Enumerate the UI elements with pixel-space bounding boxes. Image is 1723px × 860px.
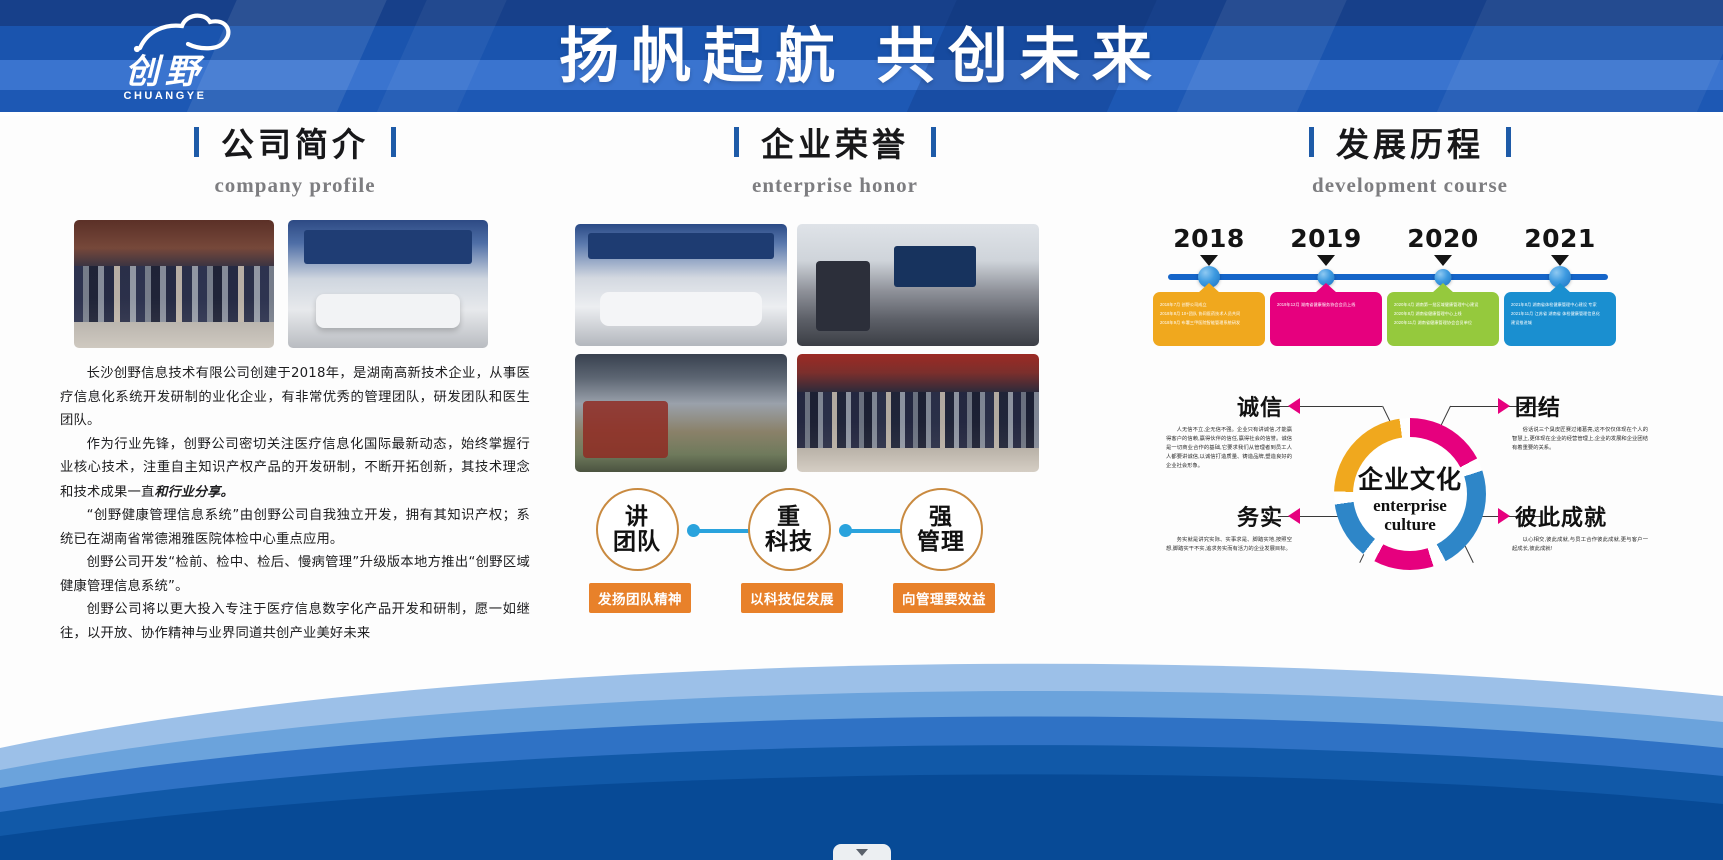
culture-item-mutual-achievement: 彼此成就 以心相交,彼此成就,与员工合作彼此成就,更与客户一起成长,彼此成就! [1498, 500, 1648, 554]
timeline-card: 2019年12月 湖南省健康服务协会会员上线 [1270, 292, 1382, 346]
culture-item-label: 务实 [1150, 500, 1300, 532]
timeline-card: 2021年8月 湖南省体检健康管理中心建设 专家 2021年11月 江苏省 湖南… [1504, 292, 1616, 346]
slogan-circle-text: 重 科技 [765, 505, 813, 555]
award-ceremony-group-photo [797, 354, 1039, 472]
slogan-circle: 强 管理 [900, 488, 983, 571]
team-group-photo [74, 220, 274, 348]
timeline-card-line: 2018年9月 布署三甲医院智能管理系统研发 [1160, 319, 1258, 327]
slogan-item-management: 强 管理 向管理要效益 [893, 488, 989, 613]
timeline-card-line: 2020年11月 湖南省健康管理协会会员单位 [1394, 319, 1492, 327]
timeline-card-line: 2021年8月 湖南省体检健康管理中心建设 专家 [1511, 301, 1609, 309]
arrow-left-icon [1288, 508, 1300, 524]
caret-down-icon [1200, 255, 1218, 266]
slogan-circle: 讲 团队 [596, 488, 679, 571]
arrow-left-icon [1288, 398, 1300, 414]
culture-item-label-text: 务实 [1237, 500, 1283, 532]
scroll-down-indicator[interactable] [833, 844, 891, 860]
section-title-en: enterprise honor [575, 173, 1095, 198]
culture-item-description: 人无信不立,企无信不强。企业只有讲诚信,才能赢得客户的信赖,赢得伙伴的信任,赢得… [1150, 426, 1300, 471]
section-title-en: development course [1150, 173, 1670, 198]
slogan-circle-text: 讲 团队 [613, 505, 661, 555]
section-title-cn: 发展历程 [1336, 118, 1484, 166]
timeline-node-2021: 2021 2021年8月 湖南省体检健康管理中心建设 专家 2021年11月 江… [1501, 224, 1619, 266]
slogan-circle-text: 强 管理 [917, 505, 965, 555]
section-title-cn: 企业荣誉 [761, 118, 909, 166]
culture-item-description: 俗话说三个臭皮匠赛过诸葛亮,这不仅仅体现在个人的智慧上,更体现在企业的经营管理上… [1498, 426, 1648, 453]
section-header: 企业荣誉 enterprise honor [575, 118, 1095, 198]
culture-center-en-line2: culture [1335, 515, 1485, 534]
culture-item-label-text: 团结 [1515, 390, 1561, 422]
culture-item-unity: 团结 俗话说三个臭皮匠赛过诸葛亮,这不仅仅体现在个人的智慧上,更体现在企业的经营… [1498, 390, 1648, 453]
title-bar-left-icon [1309, 127, 1314, 157]
section-title-cn: 公司简介 [221, 118, 369, 166]
timeline-year: 2020 [1384, 224, 1502, 253]
culture-item-pragmatism: 务实 务实就是讲究实际、实事求是、脚踏实地,按照空想,脚踏实干不实,追求务实而有… [1150, 500, 1300, 554]
culture-item-description: 务实就是讲究实际、实事求是、脚踏实地,按照空想,脚踏实干不实,追求务实而有活力的… [1150, 536, 1300, 554]
poster-title: 扬帆起航 共创未来 [0, 22, 1723, 92]
timeline-year: 2019 [1267, 224, 1385, 253]
timeline-node-2018: 2018 2018年7月 创野公司成立 2018年8月 10+团队 协同医药技术… [1150, 224, 1268, 266]
section-header: 公司简介 company profile [60, 118, 530, 198]
section-enterprise-honor: 企业荣誉 enterprise honor [575, 118, 1095, 613]
poster-content: 公司简介 company profile 长沙创野信息技术有限公司创建于2018… [0, 118, 1723, 648]
arrow-right-icon [1498, 508, 1510, 524]
title-bar-right-icon [1506, 127, 1511, 157]
slogan-circle: 重 科技 [748, 488, 831, 571]
caret-down-icon [1551, 255, 1569, 266]
culture-center-cn: 企业文化 [1335, 460, 1485, 496]
poster-footer-waves [0, 630, 1723, 860]
culture-item-description: 以心相交,彼此成就,与员工合作彼此成就,更与客户一起成长,彼此成就! [1498, 536, 1648, 554]
development-timeline: 2018 2018年7月 创野公司成立 2018年8月 10+团队 协同医药技术… [1150, 224, 1670, 376]
timeline-card-line: 2021年11月 江苏省 湖南省 体检健康管理信息化 [1511, 310, 1609, 318]
section-title-en: company profile [60, 173, 530, 198]
culture-center-en-line1: enterprise [1335, 496, 1485, 515]
timeline-card-line: 2018年7月 创野公司成立 [1160, 301, 1258, 309]
culture-wall-poster: 创野 CHUANGYE 扬帆起航 共创未来 公司简介 company profi… [0, 0, 1723, 860]
slogan-badge: 向管理要效益 [893, 583, 995, 613]
profile-body-text: 长沙创野信息技术有限公司创建于2018年，是湖南高新技术企业，从事医疗信息化系统… [60, 362, 530, 645]
culture-center-label: 企业文化 enterprise culture [1335, 460, 1485, 534]
profile-paragraph: 长沙创野信息技术有限公司创建于2018年，是湖南高新技术企业，从事医疗信息化系统… [60, 362, 530, 433]
profile-paragraph: 创野公司开发“检前、检中、检后、慢病管理”升级版本地方推出“创野区域健康管理信息… [60, 551, 530, 598]
timeline-card-line: 2018年8月 10+团队 协同医药技术人员共同 [1160, 310, 1258, 318]
slogan-badge: 发扬团队精神 [589, 583, 691, 613]
honor-photo-grid [575, 224, 1095, 474]
poster-header: 创野 CHUANGYE 扬帆起航 共创未来 [0, 0, 1723, 114]
office-reception-photo [288, 220, 488, 348]
timeline-card-line: 2020年8月 湖南省健康管理中心上线 [1394, 310, 1492, 318]
profile-paragraph: “创野健康管理信息系统”由创野公司自我独立开发，拥有其知识产权；系统已在湖南省常… [60, 504, 530, 551]
profile-paragraph: 作为行业先锋，创野公司密切关注医疗信息化国际最新动态，始终掌握行业核心技术，注重… [60, 433, 530, 505]
section-company-profile: 公司简介 company profile 长沙创野信息技术有限公司创建于2018… [60, 118, 530, 645]
culture-item-label-text: 彼此成就 [1515, 500, 1607, 532]
culture-item-label: 诚信 [1150, 390, 1300, 422]
enterprise-culture-diagram: 企业文化 enterprise culture 诚信 人无信不立,企无信不强。企… [1150, 382, 1670, 597]
handwritten-note: 和行业分享。 [154, 484, 233, 499]
timeline-card-line: 2019年12月 湖南省健康服务协会会员上线 [1277, 301, 1375, 309]
connector-dot-icon [687, 524, 700, 537]
slogan-badge: 以科技促发展 [741, 583, 843, 613]
culture-item-integrity: 诚信 人无信不立,企无信不强。企业只有讲诚信,才能赢得客户的信赖,赢得伙伴的信任… [1150, 390, 1300, 471]
profile-photo-group [60, 220, 530, 348]
caret-down-icon [1434, 255, 1452, 266]
timeline-year: 2018 [1150, 224, 1268, 253]
timeline-card-line: 建设推进城 [1511, 319, 1609, 327]
slogan-item-team: 讲 团队 发扬团队精神 [589, 488, 685, 613]
header-underline [0, 112, 1723, 116]
slogan-row: 讲 团队 发扬团队精神 重 科技 以科技促发展 强 管理 向管理要效益 [575, 488, 1095, 613]
workspace-photo [575, 354, 787, 472]
timeline-node-2019: 2019 2019年12月 湖南省健康服务协会会员上线 [1267, 224, 1385, 266]
timeline-axis [1168, 274, 1608, 280]
office-lounge-photo [575, 224, 787, 346]
title-bar-left-icon [194, 127, 199, 157]
wave-graphic [0, 630, 1723, 860]
timeline-card: 2020年4月 湖南第一批区域健康管理中心建设 2020年8月 湖南省健康管理中… [1387, 292, 1499, 346]
timeline-card: 2018年7月 创野公司成立 2018年8月 10+团队 协同医药技术人员共同 … [1153, 292, 1265, 346]
section-development-course: 发展历程 development course 2018 2018年7月 创野公… [1150, 118, 1670, 597]
culture-item-label: 团结 [1498, 390, 1648, 422]
culture-item-label-text: 诚信 [1237, 390, 1283, 422]
section-header: 发展历程 development course [1150, 118, 1670, 198]
title-bar-left-icon [734, 127, 739, 157]
arrow-right-icon [1498, 398, 1510, 414]
slogan-item-tech: 重 科技 以科技促发展 [741, 488, 837, 613]
culture-item-label: 彼此成就 [1498, 500, 1648, 532]
timeline-node-2020: 2020 2020年4月 湖南第一批区域健康管理中心建设 2020年8月 湖南省… [1384, 224, 1502, 266]
title-bar-right-icon [391, 127, 396, 157]
meeting-presentation-photo [797, 224, 1039, 346]
timeline-year: 2021 [1501, 224, 1619, 253]
caret-down-icon [1317, 255, 1335, 266]
timeline-card-line: 2020年4月 湖南第一批区域健康管理中心建设 [1394, 301, 1492, 309]
connector-dot-icon [839, 524, 852, 537]
title-bar-right-icon [931, 127, 936, 157]
